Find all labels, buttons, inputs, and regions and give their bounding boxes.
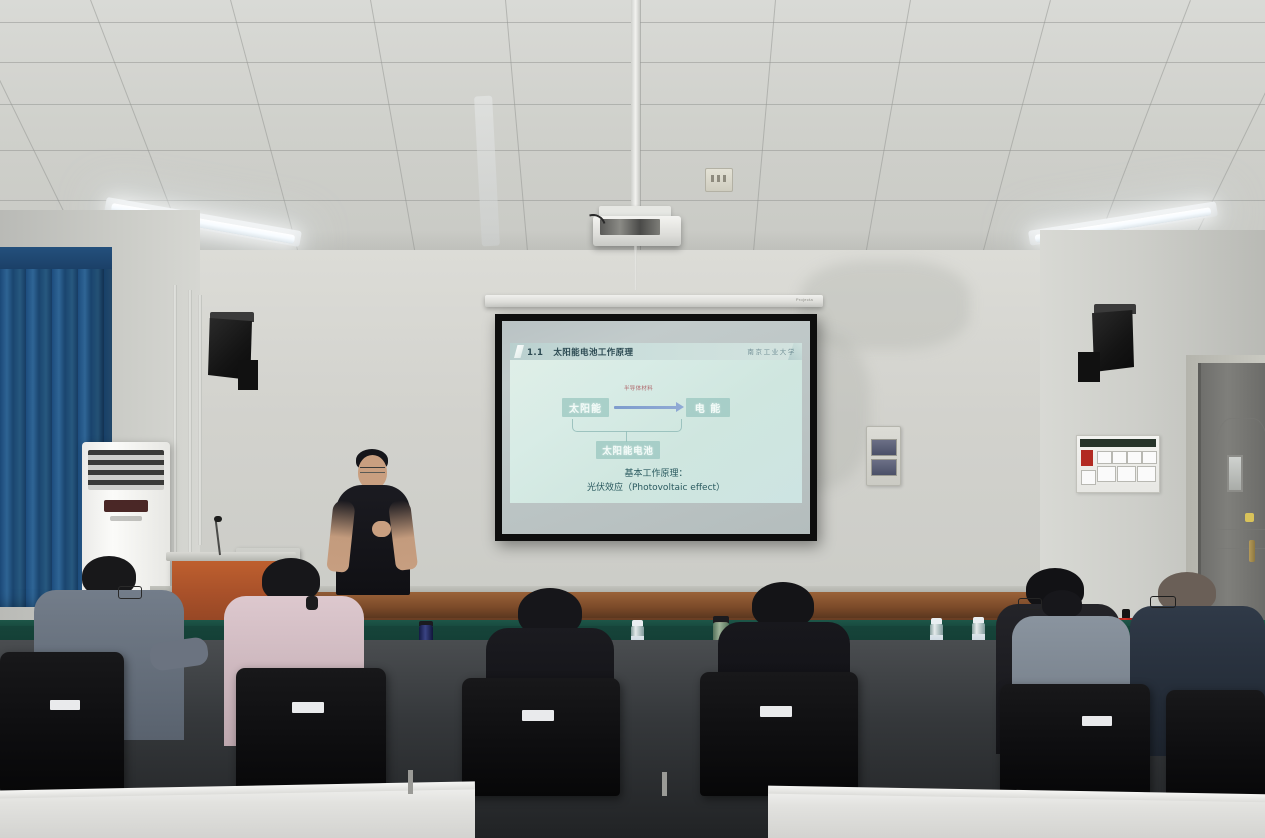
chair[interactable]	[700, 672, 858, 796]
chair-label-tag	[522, 710, 554, 721]
university-logo: 南京工业大学	[747, 346, 796, 356]
poster-warning-icon	[1081, 450, 1093, 466]
solar-cell-box: 太阳能电池	[596, 441, 660, 459]
projected-slide: 1.1 太阳能电池工作原理 南京工业大学 半导体材料 太阳能 电 能 太阳能电池…	[510, 343, 802, 503]
wall-pipe-2	[188, 290, 192, 560]
chair[interactable]	[1000, 684, 1150, 796]
wall-control-panel[interactable]	[866, 426, 901, 486]
panel-window-top	[871, 439, 897, 456]
attendee-glasses	[1150, 596, 1176, 608]
chair-label-tag	[1082, 716, 1112, 726]
attendee-glasses	[1018, 598, 1042, 610]
projector-rod-shadow	[634, 246, 637, 290]
conversion-arrow-line	[614, 406, 678, 409]
chair-label-tag	[760, 706, 792, 717]
chair-label-tag	[292, 702, 324, 713]
chair[interactable]	[1166, 690, 1265, 800]
electric-energy-box: 电 能	[686, 398, 730, 417]
door-handle[interactable]	[1249, 540, 1255, 562]
stage-front-facade	[336, 592, 1036, 618]
room-photo-scene: Projecta 1.1 太阳能电池工作原理 南京工业大学 半导体材料 太阳能 …	[0, 0, 1265, 838]
ac-vent-grille	[88, 450, 164, 490]
ac-brand-logo	[110, 516, 142, 521]
door-lock[interactable]	[1245, 513, 1254, 522]
slide-footer-line2: 光伏效应（Photovoltaic effect）	[510, 480, 802, 493]
attendee-hair	[1042, 590, 1082, 618]
screen-brand-label: Projecta	[796, 297, 813, 302]
slide-footer-line1: 基本工作原理：	[510, 466, 802, 479]
poster-header-band	[1080, 439, 1156, 447]
semiconductor-material-label: 半导体材料	[624, 384, 653, 392]
presenter-gesturing-hand	[372, 521, 391, 537]
emergency-evacuation-poster	[1076, 435, 1160, 493]
projector-ports	[600, 219, 660, 235]
slide-title: 1.1 太阳能电池工作原理	[527, 346, 633, 358]
slide-title-text: 太阳能电池工作原理	[553, 348, 633, 358]
presenter-glasses	[360, 467, 385, 473]
curtain-rail	[0, 247, 112, 269]
attendee-glasses	[118, 586, 142, 599]
ac-display	[104, 500, 148, 512]
front-desk-leg-left	[408, 770, 413, 794]
slide-title-number: 1.1	[527, 348, 543, 358]
door-viewport-window	[1227, 455, 1243, 492]
wall-pipe-1	[173, 285, 177, 575]
speaker-left-bracket	[238, 360, 258, 390]
chair-label-tag	[50, 700, 80, 710]
gooseneck-microphone[interactable]	[214, 516, 222, 522]
chair[interactable]	[0, 652, 124, 792]
projection-screen-surface[interactable]: 1.1 太阳能电池工作原理 南京工业大学 半导体材料 太阳能 电 能 太阳能电池…	[502, 321, 810, 534]
ceiling-power-outlet[interactable]	[705, 168, 733, 192]
panel-window-bottom	[871, 459, 897, 476]
projection-screen-housing[interactable]: Projecta	[485, 295, 823, 307]
conversion-arrow-head	[676, 402, 684, 412]
solar-energy-box: 太阳能	[562, 398, 609, 417]
projector-mount-rod	[631, 0, 640, 210]
chair[interactable]	[462, 678, 620, 796]
speaker-right-bracket	[1078, 352, 1100, 382]
wall-pipe-3	[198, 295, 202, 545]
front-desk-leg-right	[662, 772, 667, 796]
attendee-headset	[306, 596, 318, 610]
chair[interactable]	[236, 668, 386, 798]
